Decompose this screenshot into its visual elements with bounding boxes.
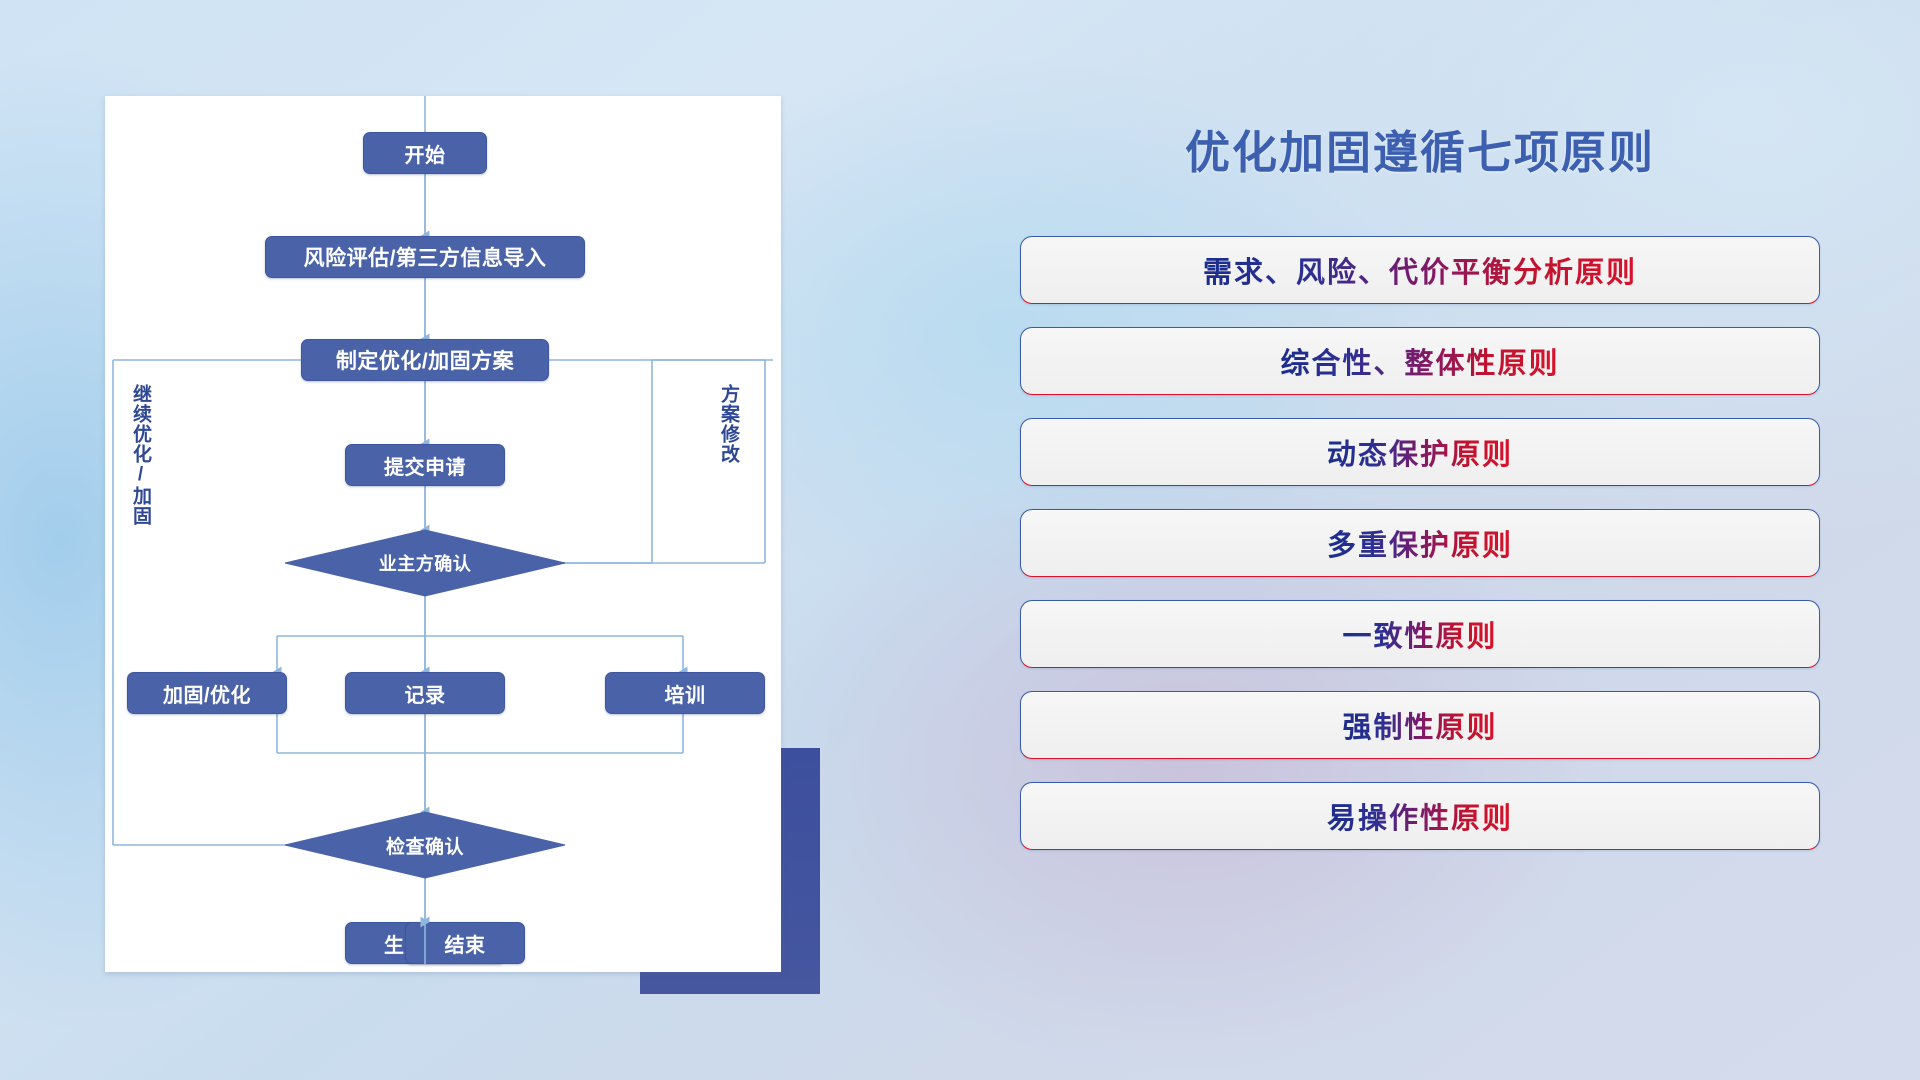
node-risk-assessment[interactable]: 风险评估/第三方信息导入 <box>265 236 585 278</box>
principle-label: 强制性原则 <box>1342 704 1497 746</box>
node-owner-confirm-label: 业主方确认 <box>325 548 525 578</box>
principle-card[interactable]: 强制性原则 <box>1020 691 1820 759</box>
principle-label: 多重保护原则 <box>1327 522 1513 564</box>
node-end[interactable]: 结束 <box>405 922 525 964</box>
node-training[interactable]: 培训 <box>605 672 765 714</box>
principle-card[interactable]: 易操作性原则 <box>1020 782 1820 850</box>
principles-list: 需求、风险、代价平衡分析原则 综合性、整体性原则 动态保护原则 多重保护原则 一… <box>1020 236 1820 873</box>
principle-card[interactable]: 动态保护原则 <box>1020 418 1820 486</box>
node-submit-application[interactable]: 提交申请 <box>345 444 505 486</box>
principle-label: 需求、风险、代价平衡分析原则 <box>1203 249 1637 291</box>
node-make-plan[interactable]: 制定优化/加固方案 <box>301 339 549 381</box>
node-inspection-confirm-label: 检查确认 <box>325 830 525 860</box>
node-start[interactable]: 开始 <box>363 132 487 174</box>
page-title: 优化加固遵循七项原则 <box>1020 116 1820 181</box>
principle-card[interactable]: 一致性原则 <box>1020 600 1820 668</box>
principle-card[interactable]: 多重保护原则 <box>1020 509 1820 577</box>
edge-label-continue-optimize: 继续优化/加固 <box>131 384 150 526</box>
principle-card[interactable]: 综合性、整体性原则 <box>1020 327 1820 395</box>
node-record[interactable]: 记录 <box>345 672 505 714</box>
slide-canvas: 业主方确认 检查确认 开始 风险评估/第三方信息导入 制定优化/加固方案 提交申… <box>0 0 1920 1080</box>
principle-label: 易操作性原则 <box>1327 795 1513 837</box>
principle-card[interactable]: 需求、风险、代价平衡分析原则 <box>1020 236 1820 304</box>
principles-panel: 优化加固遵循七项原则 需求、风险、代价平衡分析原则 综合性、整体性原则 动态保护… <box>1020 96 1820 996</box>
principle-label: 一致性原则 <box>1342 613 1497 655</box>
edge-label-plan-revision: 方案修改 <box>719 384 738 464</box>
flowchart-panel: 业主方确认 检查确认 开始 风险评估/第三方信息导入 制定优化/加固方案 提交申… <box>105 96 781 972</box>
principle-label: 动态保护原则 <box>1327 431 1513 473</box>
node-reinforce-optimize[interactable]: 加固/优化 <box>127 672 287 714</box>
principle-label: 综合性、整体性原则 <box>1280 340 1559 382</box>
